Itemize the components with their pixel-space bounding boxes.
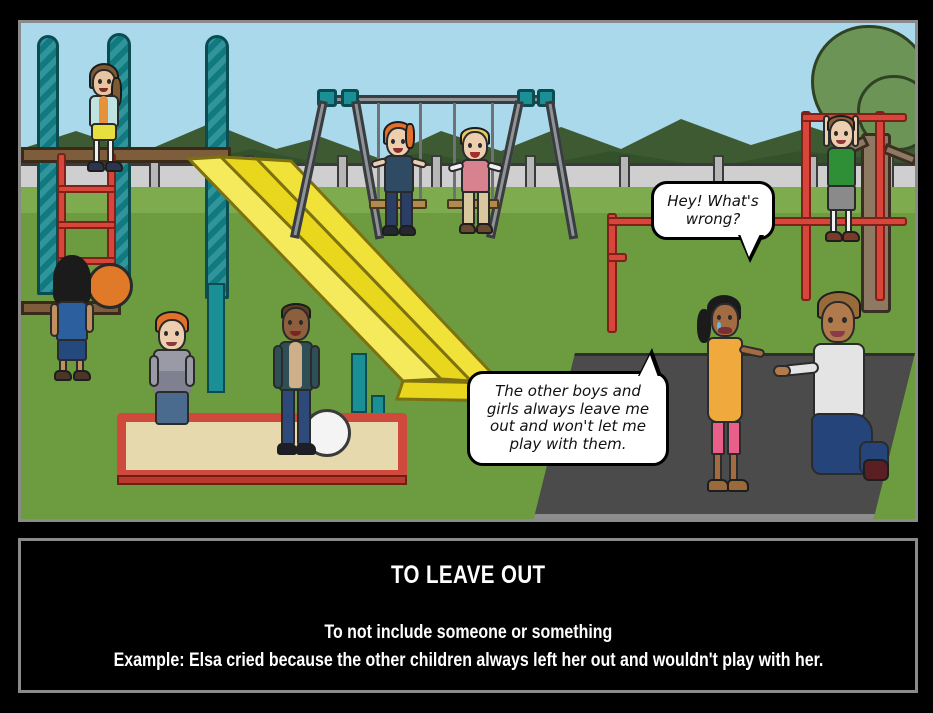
character-boy-by-slide[interactable] bbox=[269, 303, 325, 463]
character-girl-on-swing[interactable] bbox=[373, 121, 427, 241]
speech-bubble-girl-text: The other boys and girls always leave me… bbox=[487, 382, 649, 453]
character-child-on-swing-2[interactable] bbox=[449, 127, 503, 243]
character-kneeling-boy[interactable] bbox=[797, 291, 893, 517]
speech-bubble-helper[interactable]: Hey! What's wrong? bbox=[651, 181, 775, 240]
monkey-bar-post bbox=[875, 111, 885, 301]
ladder-rung bbox=[57, 221, 116, 229]
playground-scene: Hey! What's wrong? The other boys and gi… bbox=[21, 23, 915, 519]
speech-bubble-girl[interactable]: The other boys and girls always leave me… bbox=[467, 371, 669, 466]
panel-title: TO LEAVE OUT bbox=[391, 561, 546, 590]
speech-tail-fill bbox=[639, 355, 658, 377]
sandbox-edge bbox=[117, 475, 407, 485]
panel-definition: To not include someone or something bbox=[324, 622, 612, 644]
monkey-bar-rung bbox=[607, 253, 627, 262]
storyboard: Hey! What's wrong? The other boys and gi… bbox=[0, 0, 933, 713]
character-child-with-basketball[interactable] bbox=[45, 255, 103, 381]
character-boy-in-sandbox[interactable] bbox=[145, 311, 201, 435]
caption-panel: TO LEAVE OUT To not include someone or s… bbox=[18, 538, 918, 693]
monkey-bar-post bbox=[607, 213, 617, 333]
character-crying-girl[interactable] bbox=[697, 295, 759, 515]
scene-panel[interactable]: Hey! What's wrong? The other boys and gi… bbox=[18, 20, 918, 522]
speech-bubble-helper-text: Hey! What's wrong? bbox=[667, 192, 759, 228]
character-girl-on-platform[interactable] bbox=[79, 63, 133, 173]
ladder-rung bbox=[57, 185, 116, 193]
monkey-bar-post bbox=[801, 111, 811, 301]
speech-tail-fill bbox=[740, 234, 760, 257]
panel-example: Example: Elsa cried because the other ch… bbox=[113, 650, 823, 672]
character-boy-on-monkey-bars[interactable] bbox=[815, 101, 867, 251]
